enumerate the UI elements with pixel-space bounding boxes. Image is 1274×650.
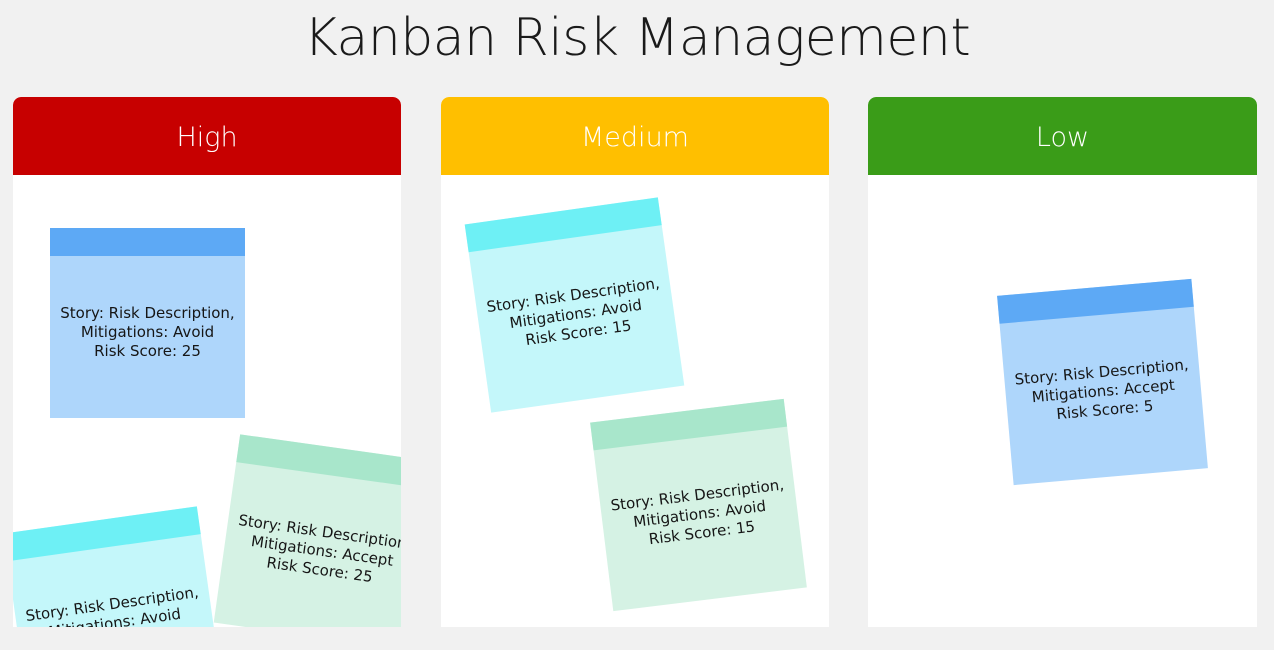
column-header-medium: Medium <box>441 97 829 175</box>
card-text-high-0: Story: Risk Description,Mitigations: Avo… <box>50 256 245 361</box>
card-text-low-0: Story: Risk Description,Mitigations: Acc… <box>1000 307 1203 429</box>
page-title: Kanban Risk Management <box>0 0 1274 76</box>
column-title-medium: Medium <box>441 97 829 175</box>
risk-card[interactable]: Story: Risk Description,Mitigations: Avo… <box>13 506 223 627</box>
column-title-high: High <box>13 97 401 175</box>
kanban-column-low[interactable]: Low Story: Risk Description,Mitigations:… <box>868 97 1257 627</box>
column-body-high[interactable]: Story: Risk Description,Mitigations: Avo… <box>13 175 401 627</box>
risk-card[interactable]: Story: Risk Description,Mitigations: Acc… <box>997 279 1208 485</box>
column-header-high: High <box>13 97 401 175</box>
kanban-board: High Story: Risk Description,Mitigations… <box>13 97 1261 627</box>
column-title-low: Low <box>868 97 1257 175</box>
column-body-medium[interactable]: Story: Risk Description,Mitigations: Avo… <box>441 175 829 627</box>
column-header-low: Low <box>868 97 1257 175</box>
kanban-column-high[interactable]: High Story: Risk Description,Mitigations… <box>13 97 401 627</box>
risk-card[interactable]: Story: Risk Description,Mitigations: Avo… <box>465 197 685 412</box>
column-body-low[interactable]: Story: Risk Description,Mitigations: Acc… <box>868 175 1257 627</box>
risk-card[interactable]: Story: Risk Description,Mitigations: Avo… <box>590 399 807 611</box>
kanban-column-medium[interactable]: Medium Story: Risk Description,Mitigatio… <box>441 97 829 627</box>
risk-card[interactable]: Story: Risk Description,Mitigations: Avo… <box>50 228 245 418</box>
card-header-strip <box>50 228 245 256</box>
risk-card[interactable]: Story: Risk Description,Mitigations: Acc… <box>214 434 401 627</box>
